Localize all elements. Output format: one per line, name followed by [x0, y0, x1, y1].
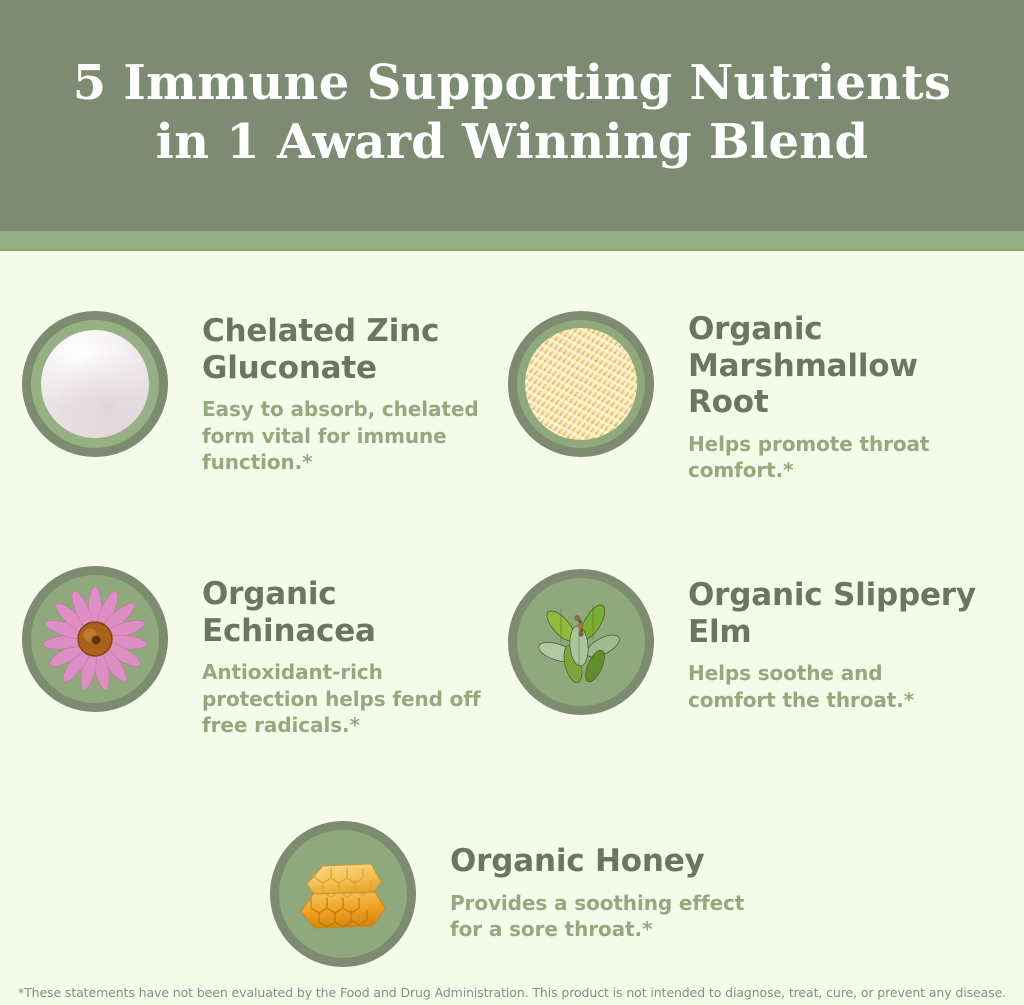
flower-graphic: [42, 586, 148, 692]
badge-inner: [31, 575, 159, 703]
leaves-graphic: [529, 590, 633, 694]
nutrient-description: Helps promote throat comfort.*: [688, 431, 988, 484]
nutrient-item-zinc: Chelated Zinc Gluconate Easy to absorb, …: [22, 311, 492, 475]
badge-inner: [279, 830, 407, 958]
nutrient-text-block: Organic Slippery Elm Helps soothe and co…: [688, 569, 1008, 713]
nutrient-title: Organic Slippery Elm: [688, 577, 1008, 650]
echinacea-flower-icon: [22, 566, 168, 712]
honeycomb-icon: [270, 821, 416, 967]
nutrient-description: Provides a soothing effect for a sore th…: [450, 890, 760, 943]
honeycomb-graphic: [289, 840, 397, 948]
nutrient-title: Organic Echinacea: [202, 576, 492, 649]
nutrient-title: Organic Marshmallow Root: [688, 311, 1008, 421]
nutrient-list: Chelated Zinc Gluconate Easy to absorb, …: [0, 251, 1024, 967]
nutrient-description: Easy to absorb, chelated form vital for …: [202, 396, 492, 475]
header-banner: 5 Immune Supporting Nutrients in 1 Award…: [0, 0, 1024, 231]
zinc-powder-icon: [22, 311, 168, 457]
shredded-root-swatch: [525, 328, 637, 440]
nutrient-description: Helps soothe and comfort the throat.*: [688, 660, 968, 713]
nutrient-text-block: Organic Honey Provides a soothing effect…: [450, 821, 760, 942]
badge-inner: [517, 320, 645, 448]
powder-swatch: [41, 330, 149, 438]
nutrient-item-echinacea: Organic Echinacea Antioxidant-rich prote…: [22, 566, 492, 738]
marshmallow-root-icon: [508, 311, 654, 457]
elm-leaves-icon: [508, 569, 654, 715]
header-title-line-1: 5 Immune Supporting Nutrients: [73, 54, 952, 113]
nutrient-title: Chelated Zinc Gluconate: [202, 313, 492, 386]
nutrient-item-marshmallow-root: Organic Marshmallow Root Helps promote t…: [508, 311, 1008, 484]
badge-inner: [31, 320, 159, 448]
nutrient-text-block: Organic Echinacea Antioxidant-rich prote…: [202, 566, 492, 738]
header-accent-stripe: [0, 231, 1024, 250]
nutrient-item-honey: Organic Honey Provides a soothing effect…: [270, 821, 790, 967]
nutrient-text-block: Chelated Zinc Gluconate Easy to absorb, …: [202, 311, 492, 475]
nutrient-text-block: Organic Marshmallow Root Helps promote t…: [688, 311, 1008, 484]
header-title-line-2: in 1 Award Winning Blend: [156, 113, 869, 172]
badge-inner: [517, 578, 645, 706]
nutrient-description: Antioxidant-rich protection helps fend o…: [202, 659, 492, 738]
footer-disclaimer: *These statements have not been evaluate…: [0, 985, 1024, 1001]
nutrient-item-slippery-elm: Organic Slippery Elm Helps soothe and co…: [508, 569, 1008, 715]
nutrient-title: Organic Honey: [450, 843, 760, 880]
